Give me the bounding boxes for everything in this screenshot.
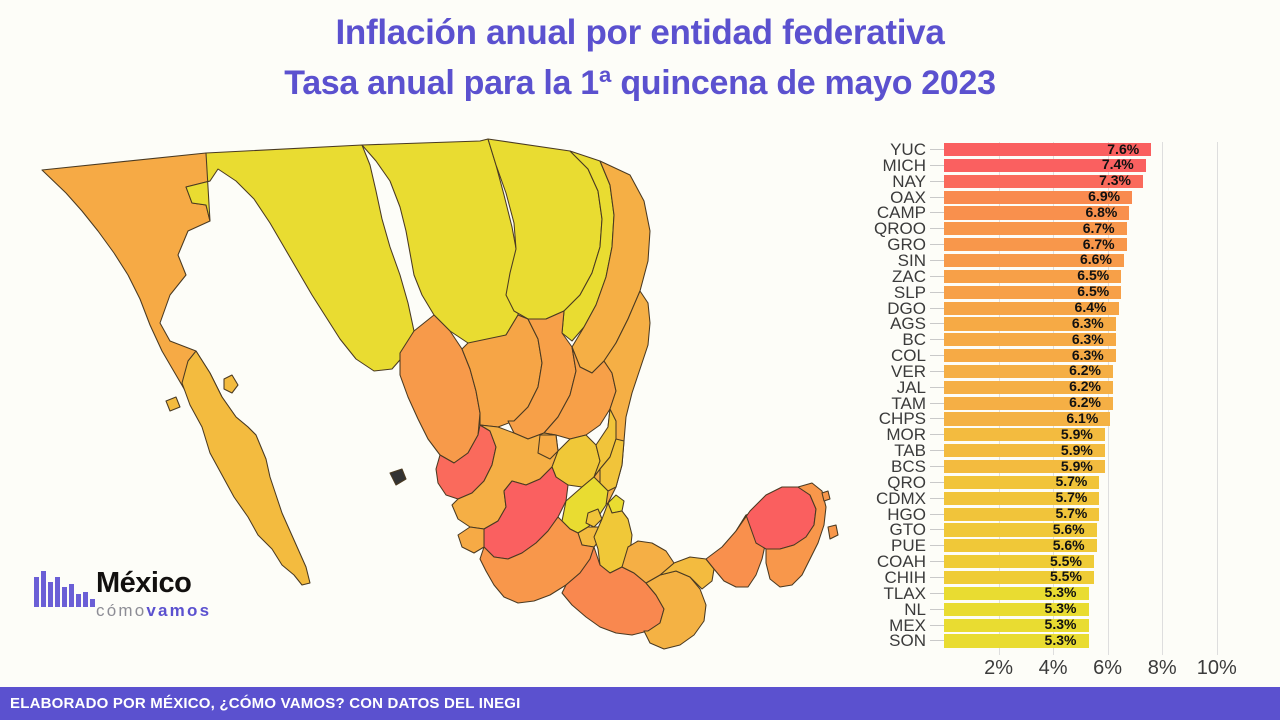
bar-value-label: 5.3% <box>1045 600 1077 617</box>
bar-value-label: 6.5% <box>1077 267 1109 284</box>
logo-text: México cómovamos <box>96 567 211 621</box>
chart-row: GTO5.6% <box>944 522 1244 538</box>
bar-value-label: 6.2% <box>1069 378 1101 395</box>
chart-row: CHIH5.5% <box>944 570 1244 586</box>
category-tick <box>930 498 944 499</box>
category-tick <box>930 593 944 594</box>
bar-value-label: 6.8% <box>1085 204 1117 221</box>
x-axis-tick-label: 2% <box>984 657 1013 680</box>
category-tick <box>930 197 944 198</box>
chart-row: COAH5.5% <box>944 554 1244 570</box>
island-bcs-2 <box>166 397 180 411</box>
category-tick <box>930 339 944 340</box>
category-tick <box>930 482 944 483</box>
chart-row: TLAX5.3% <box>944 586 1244 602</box>
bar-value-label: 5.7% <box>1055 489 1087 506</box>
chart-row: QRO5.7% <box>944 475 1244 491</box>
chart-row: CDMX5.7% <box>944 491 1244 507</box>
chart-plot-area: YUC7.6%MICH7.4%NAY7.3%OAX6.9%CAMP6.8%QRO… <box>944 142 1244 655</box>
category-tick <box>930 244 944 245</box>
bar-value-label: 5.9% <box>1061 426 1093 443</box>
chart-row: MOR5.9% <box>944 427 1244 443</box>
island-nay <box>390 469 406 485</box>
bar-value-label: 5.7% <box>1055 473 1087 490</box>
category-tick <box>930 387 944 388</box>
title-line-1: Inflación anual por entidad federativa <box>0 8 1280 58</box>
category-tick <box>930 149 944 150</box>
chart-x-axis: 2%4%6%8%10% <box>944 657 1244 687</box>
state-col <box>458 527 484 553</box>
category-tick <box>930 403 944 404</box>
bar-value-label: 6.2% <box>1069 362 1101 379</box>
category-tick <box>930 514 944 515</box>
bar-value-label: 5.3% <box>1045 616 1077 633</box>
footer-credit-text: ELABORADO POR MÉXICO, ¿CÓMO VAMOS? CON D… <box>0 695 521 712</box>
chart-row: MICH7.4% <box>944 158 1244 174</box>
bar-value-label: 6.2% <box>1069 394 1101 411</box>
chart-row: HGO5.7% <box>944 507 1244 523</box>
category-tick <box>930 466 944 467</box>
category-tick <box>930 545 944 546</box>
category-tick <box>930 625 944 626</box>
category-tick <box>930 450 944 451</box>
chart-row: BCS5.9% <box>944 459 1244 475</box>
category-tick <box>930 276 944 277</box>
bar-value-label: 7.4% <box>1102 156 1134 173</box>
bar-value-label: 6.7% <box>1083 236 1115 253</box>
bar-value-label: 5.6% <box>1053 521 1085 538</box>
category-tick <box>930 292 944 293</box>
category-tick <box>930 165 944 166</box>
category-tick <box>930 260 944 261</box>
island-bcs-1 <box>224 375 238 393</box>
bar-value-label: 5.9% <box>1061 442 1093 459</box>
bar-value-label: 5.5% <box>1050 568 1082 585</box>
category-tick <box>930 609 944 610</box>
category-tick <box>930 308 944 309</box>
island-mujeres <box>822 491 830 501</box>
bar-value-label: 5.6% <box>1053 537 1085 554</box>
x-axis-tick-label: 10% <box>1197 657 1237 680</box>
bars-logo-icon <box>34 565 96 607</box>
chart-row: MEX5.3% <box>944 618 1244 634</box>
category-tick <box>930 371 944 372</box>
state-son <box>186 145 414 371</box>
logo-tagline-vamos: vamos <box>146 601 211 620</box>
footer-credit-bar: ELABORADO POR MÉXICO, ¿CÓMO VAMOS? CON D… <box>0 687 1280 720</box>
bar-value-label: 7.6% <box>1107 141 1139 158</box>
bar-value-label: 5.3% <box>1045 632 1077 649</box>
logo-tagline-como: cómo <box>96 601 146 620</box>
category-tick <box>930 228 944 229</box>
bar-value-label: 5.7% <box>1055 505 1087 522</box>
bar-value-label: 6.1% <box>1066 410 1098 427</box>
category-tick <box>930 529 944 530</box>
bar-value-label: 6.3% <box>1072 331 1104 348</box>
infographic-canvas: Inflación anual por entidad federativa T… <box>0 0 1280 720</box>
chart-row: TAB5.9% <box>944 443 1244 459</box>
category-label: SON <box>889 631 926 650</box>
bar-value-label: 6.9% <box>1088 188 1120 205</box>
category-tick <box>930 355 944 356</box>
state-bc <box>42 153 256 441</box>
chart-row: SON5.3% <box>944 633 1244 649</box>
bar-value-label: 6.4% <box>1075 299 1107 316</box>
inflation-bar-chart: YUC7.6%MICH7.4%NAY7.3%OAX6.9%CAMP6.8%QRO… <box>860 138 1270 683</box>
chart-row: CHPS6.1% <box>944 411 1244 427</box>
state-bcs <box>182 351 310 585</box>
category-tick <box>930 418 944 419</box>
bar-value-label: 5.5% <box>1050 553 1082 570</box>
bar-value-label: 5.9% <box>1061 458 1093 475</box>
logo-name: México <box>96 567 211 599</box>
x-axis-tick-label: 6% <box>1093 657 1122 680</box>
chart-row: NL5.3% <box>944 602 1244 618</box>
bar-value-label: 6.5% <box>1077 283 1109 300</box>
x-axis-tick-label: 4% <box>1039 657 1068 680</box>
chart-row: PUE5.6% <box>944 538 1244 554</box>
category-tick <box>930 640 944 641</box>
category-tick <box>930 181 944 182</box>
category-tick <box>930 212 944 213</box>
bar-value-label: 7.3% <box>1099 172 1131 189</box>
chart-bar-rows: YUC7.6%MICH7.4%NAY7.3%OAX6.9%CAMP6.8%QRO… <box>944 142 1244 655</box>
category-tick <box>930 323 944 324</box>
category-tick <box>930 434 944 435</box>
bar-value-label: 6.3% <box>1072 315 1104 332</box>
chart-row: YUC7.6% <box>944 142 1244 158</box>
title-line-2: Tasa anual para la 1ª quincena de mayo 2… <box>0 58 1280 108</box>
bar-value-label: 6.3% <box>1072 347 1104 364</box>
page-title: Inflación anual por entidad federativa T… <box>0 8 1280 108</box>
logo: México cómovamos <box>34 563 254 653</box>
x-axis-tick-label: 8% <box>1148 657 1177 680</box>
category-tick <box>930 561 944 562</box>
logo-tagline: cómovamos <box>96 601 211 621</box>
bar-value-label: 5.3% <box>1045 584 1077 601</box>
island-cozumel <box>828 525 838 539</box>
bar-value-label: 6.6% <box>1080 251 1112 268</box>
bar-value-label: 6.7% <box>1083 220 1115 237</box>
category-tick <box>930 577 944 578</box>
